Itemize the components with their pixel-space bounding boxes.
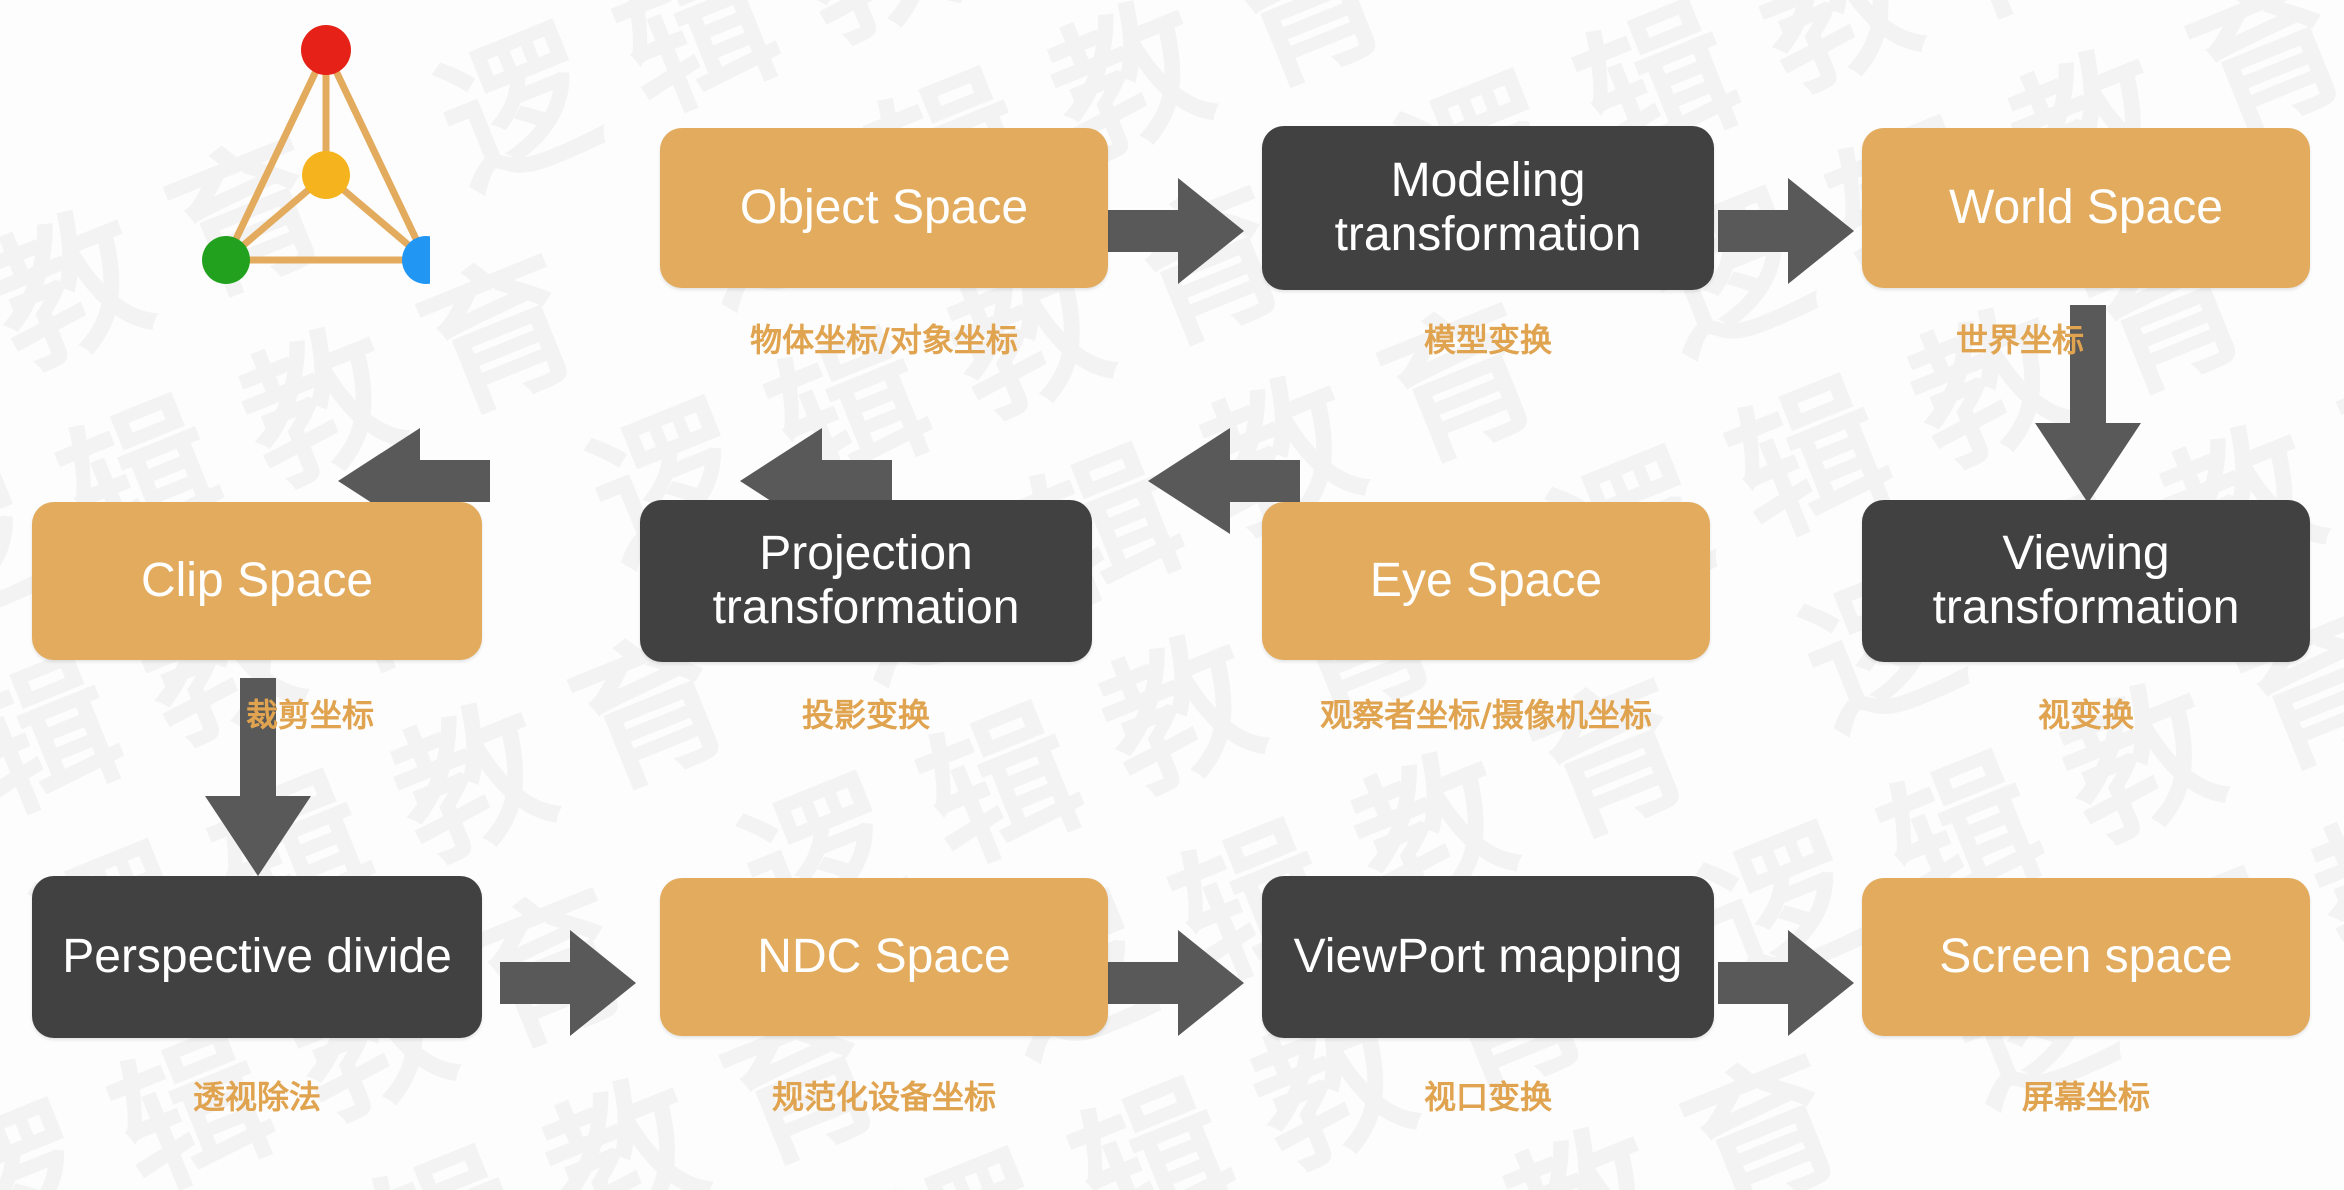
node-viewport-mapping[interactable]: ViewPort mapping [1262,876,1714,1038]
node-modeling-transformation[interactable]: Modeling transformation [1262,126,1714,290]
node-viewing-transformation[interactable]: Viewing transformation [1862,500,2310,662]
caption-eye-space: 观察者坐标/摄像机坐标 [1262,690,1710,736]
watermark-line: 逻辑教育 逻辑教育 逻辑教育 逻辑教育 逻辑教育 逻辑教育 逻辑教育 逻辑教育 … [0,283,2344,1190]
caption-screen-space: 屏幕坐标 [1862,1072,2310,1118]
arrow-right-object-to-modeling [1108,178,1244,284]
pipeline-diagram: 逻辑教育 逻辑教育 逻辑教育 逻辑教育 逻辑教育 逻辑教育 逻辑教育 逻辑教育 … [0,0,2344,1190]
arrow-right-modeling-to-world [1718,178,1854,284]
caption-viewing-transformation: 视变换 [1862,690,2310,736]
node-eye-space[interactable]: Eye Space [1262,502,1710,660]
caption-clip-space: 裁剪坐标 [110,690,510,736]
caption-projection-transformation: 投影变换 [640,690,1092,736]
node-world-space[interactable]: World Space [1862,128,2310,288]
caption-viewport-mapping: 视口变换 [1262,1072,1714,1118]
node-ndc-space[interactable]: NDC Space [660,878,1108,1036]
caption-perspective-divide: 透视除法 [32,1072,482,1118]
arrow-right-perspective-to-ndc [500,930,636,1036]
node-clip-space[interactable]: Clip Space [32,502,482,660]
node-perspective-divide[interactable]: Perspective divide [32,876,482,1038]
caption-modeling-transformation: 模型变换 [1262,315,1714,361]
caption-world-space: 世界坐标 [1820,315,2220,361]
node-screen-space[interactable]: Screen space [1862,878,2310,1036]
arrow-right-viewport-to-screen [1718,930,1854,1036]
tetra-vertex-center [302,151,350,199]
node-projection-transformation[interactable]: Projection transformation [640,500,1092,662]
arrow-right-ndc-to-viewport [1108,930,1244,1036]
tetrahedron-icon [170,10,430,305]
caption-object-space: 物体坐标/对象坐标 [660,315,1108,361]
node-object-space[interactable]: Object Space [660,128,1108,288]
tetra-vertex-apex [301,25,351,75]
caption-ndc-space: 规范化设备坐标 [660,1072,1108,1118]
tetra-vertex-left [202,236,250,284]
